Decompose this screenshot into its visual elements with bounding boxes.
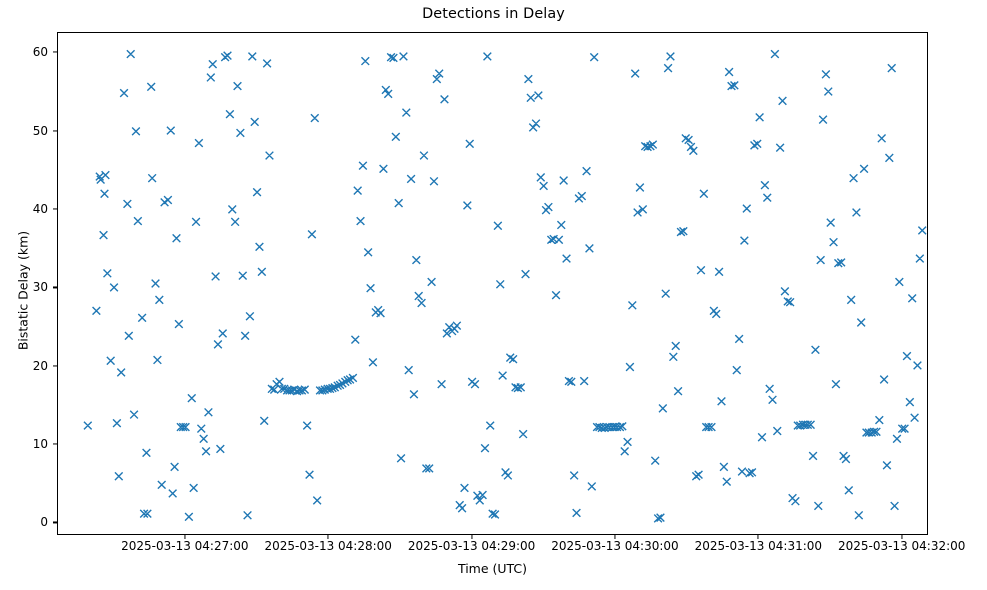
y-tick-mark: [53, 130, 57, 131]
x-tick-label: 2025-03-13 04:32:00: [838, 539, 965, 553]
x-tick-mark: [758, 535, 759, 539]
y-tick-label: 50: [4, 124, 48, 138]
page-title: Detections in Delay: [0, 6, 987, 22]
matplotlib-figure: Detections in Delay 0102030405060 2025-0…: [0, 0, 987, 590]
scatter-svg: [58, 33, 927, 534]
scatter-marker-set: [84, 50, 926, 522]
y-tick-mark: [53, 365, 57, 366]
x-tick-mark: [471, 535, 472, 539]
y-tick-mark: [53, 287, 57, 288]
y-tick-label: 60: [4, 45, 48, 59]
x-tick-mark: [614, 535, 615, 539]
x-tick-mark: [328, 535, 329, 539]
y-tick-mark: [53, 444, 57, 445]
scatter-points-layer: [58, 33, 927, 534]
x-tick-label: 2025-03-13 04:29:00: [408, 539, 535, 553]
x-tick-label: 2025-03-13 04:31:00: [695, 539, 822, 553]
x-tick-label: 2025-03-13 04:30:00: [551, 539, 678, 553]
x-tick-mark: [901, 535, 902, 539]
y-axis-label: Bistatic Delay (km): [16, 161, 31, 421]
y-tick-label: 0: [4, 515, 48, 529]
x-tick-label: 2025-03-13 04:27:00: [121, 539, 248, 553]
y-tick-mark: [53, 522, 57, 523]
x-tick-label: 2025-03-13 04:28:00: [264, 539, 391, 553]
plot-area: [57, 32, 928, 535]
x-tick-mark: [184, 535, 185, 539]
y-tick-mark: [53, 52, 57, 53]
y-tick-mark: [53, 209, 57, 210]
x-axis-label: Time (UTC): [57, 561, 928, 576]
y-tick-label: 10: [4, 437, 48, 451]
